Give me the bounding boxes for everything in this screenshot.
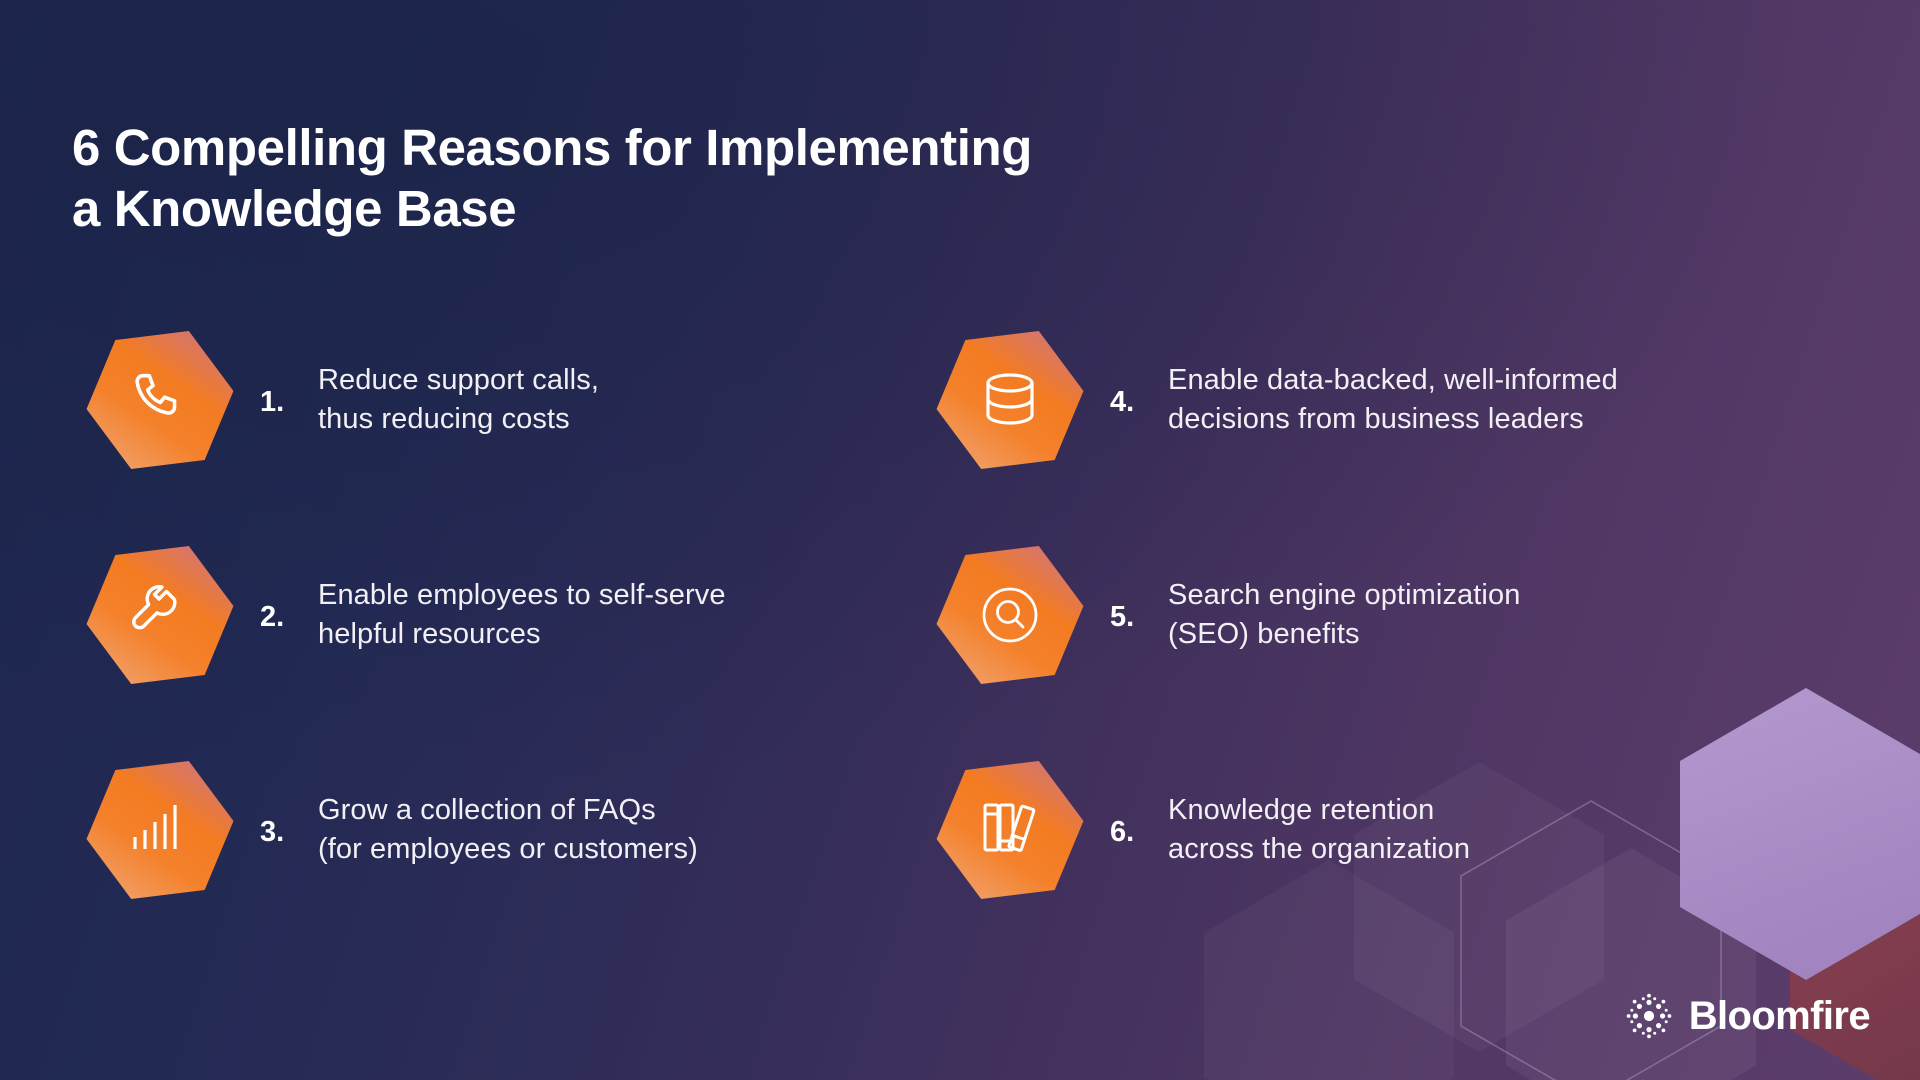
reason-icon-hexagon-5 <box>936 541 1084 689</box>
reason-item-6: 6. Knowledge retention across the organi… <box>936 756 1470 904</box>
reason-number-6: 6. <box>1110 814 1154 847</box>
reason-text-6: Knowledge retention across the organizat… <box>1168 791 1470 870</box>
reason-text-2: Enable employees to self-serve helpful r… <box>318 576 726 655</box>
reasons-grid: 1. Reduce support calls, thus reducing c… <box>0 0 1920 1080</box>
bloomfire-logo: Bloomfire <box>1623 990 1870 1042</box>
reason-icon-hexagon-2 <box>86 541 234 689</box>
reason-item-5: 5. Search engine optimization (SEO) bene… <box>936 541 1520 689</box>
reason-icon-hexagon-4 <box>936 326 1084 474</box>
reason-item-3: 3. Grow a collection of FAQs (for employ… <box>86 756 698 904</box>
reason-number-5: 5. <box>1110 599 1154 632</box>
reason-number-1: 1. <box>260 384 304 417</box>
reason-item-2: 2. Enable employees to self-serve helpfu… <box>86 541 726 689</box>
reason-text-4: Enable data-backed, well-informed decisi… <box>1168 361 1618 440</box>
reason-number-3: 3. <box>260 814 304 847</box>
reason-number-2: 2. <box>260 599 304 632</box>
reason-number-4: 4. <box>1110 384 1154 417</box>
reason-icon-hexagon-6 <box>936 756 1084 904</box>
reason-text-3: Grow a collection of FAQs (for employees… <box>318 791 698 870</box>
reason-icon-hexagon-3 <box>86 756 234 904</box>
reason-icon-hexagon-1 <box>86 326 234 474</box>
bloomfire-burst-icon <box>1623 990 1675 1042</box>
reason-item-4: 4. Enable data-backed, well-informed dec… <box>936 326 1618 474</box>
reason-text-1: Reduce support calls, thus reducing cost… <box>318 361 599 440</box>
reason-text-5: Search engine optimization (SEO) benefit… <box>1168 576 1520 655</box>
reason-item-1: 1. Reduce support calls, thus reducing c… <box>86 326 599 474</box>
bloomfire-wordmark: Bloomfire <box>1689 996 1870 1036</box>
